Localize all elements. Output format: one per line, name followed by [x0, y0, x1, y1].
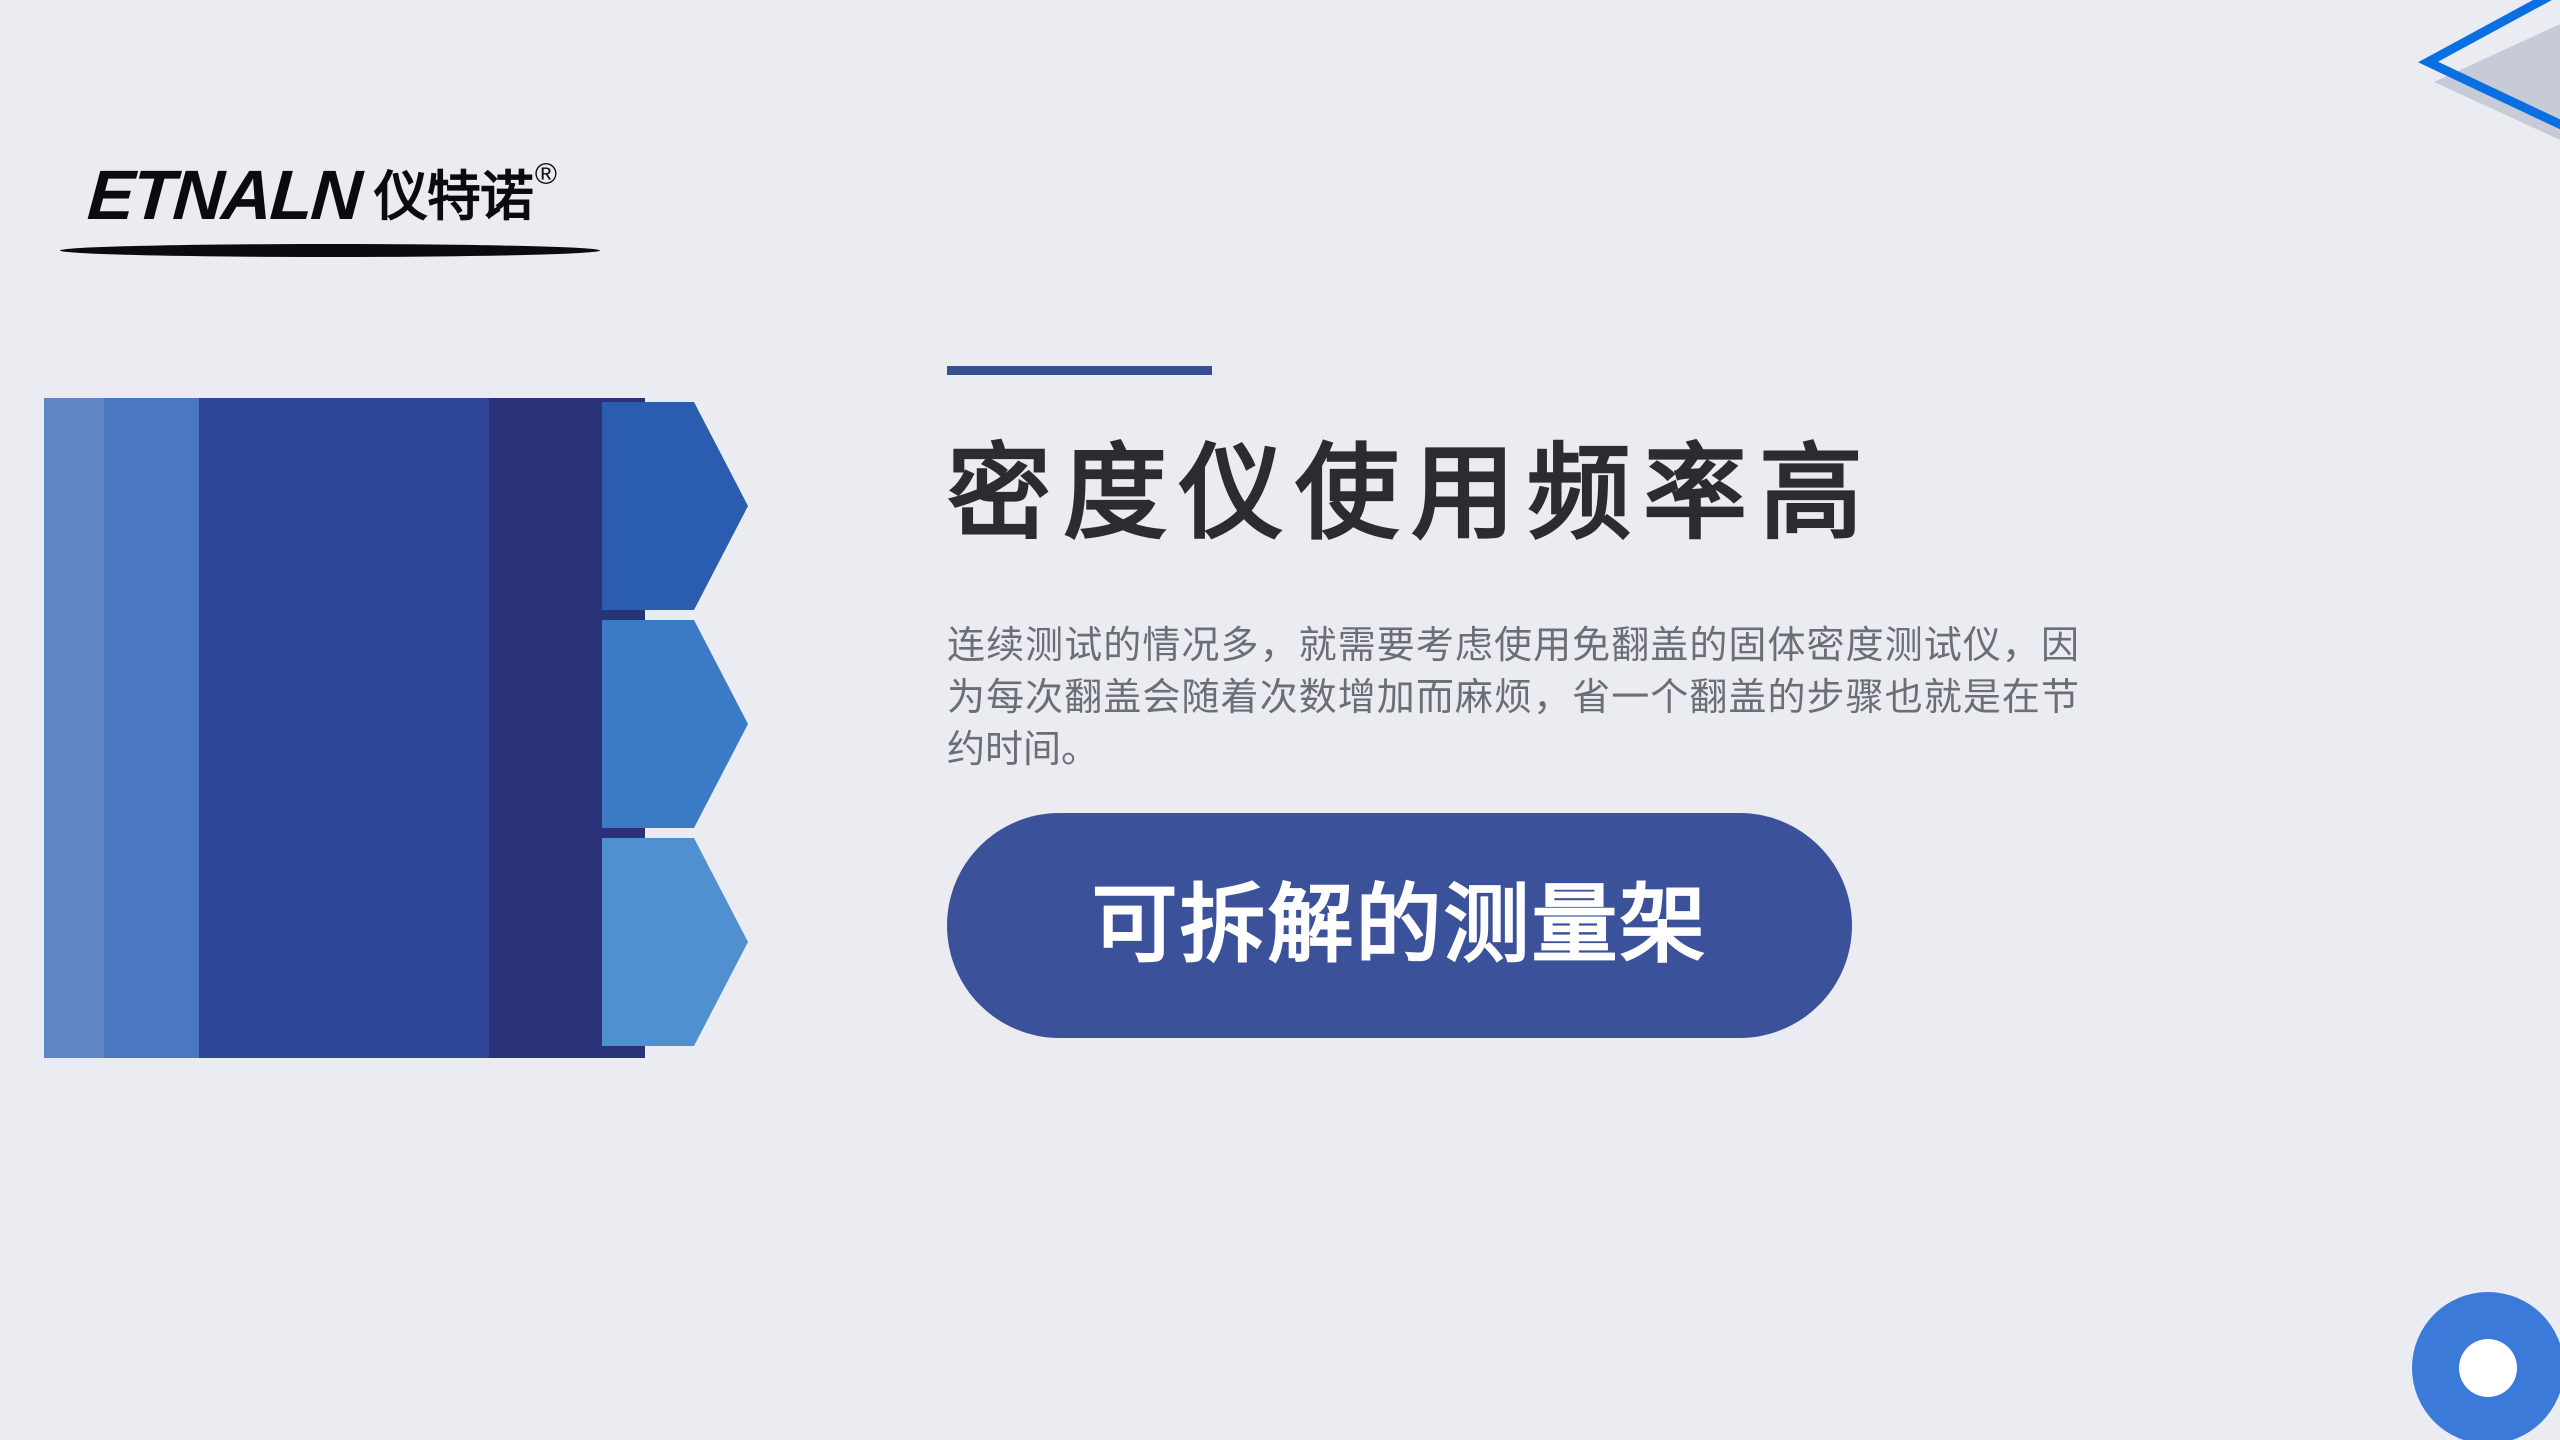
registered-trademark-icon: ®: [535, 158, 557, 192]
body-paragraph: 连续测试的情况多，就需要考虑使用免翻盖的固体密度测试仪，因为每次翻盖会随着次数增…: [947, 619, 2079, 775]
cta-button-label: 可拆解的测量架: [1092, 879, 1708, 971]
brand-logo: ETNALN 仪特诺 ®: [88, 158, 628, 268]
circle-ring-decoration: [2412, 1292, 2560, 1440]
bar-3: [199, 398, 489, 1058]
bar-1: [44, 398, 104, 1058]
page-title: 密度仪使用频率高: [947, 437, 2447, 549]
bar-2: [104, 398, 199, 1058]
cta-button[interactable]: 可拆解的测量架: [947, 813, 1852, 1038]
logo-latin-text: ETNALN: [85, 158, 362, 232]
content-column: 密度仪使用频率高 连续测试的情况多，就需要考虑使用免翻盖的固体密度测试仪，因为每…: [947, 366, 2447, 1038]
bar-group: [44, 398, 645, 1058]
accent-rule: [947, 366, 1212, 375]
triangle-decoration: [2412, 0, 2560, 150]
chevron-group: [602, 398, 748, 1058]
chevron-3-icon: [602, 838, 748, 1046]
slide-canvas: ETNALN 仪特诺 ® 密度仪使用频率高 连续测试的情: [0, 0, 2560, 1440]
logo-cjk-text: 仪特诺: [374, 158, 533, 236]
triangle-outline-icon: [2412, 0, 2560, 150]
logo-underline-rule: [60, 244, 600, 257]
logo-wordmark-row: ETNALN 仪特诺 ®: [88, 158, 628, 232]
chevron-2-icon: [602, 620, 748, 828]
circle-ring-hole: [2459, 1339, 2517, 1397]
decorative-bar-graphic: [44, 398, 744, 1058]
chevron-1-icon: [602, 402, 748, 610]
